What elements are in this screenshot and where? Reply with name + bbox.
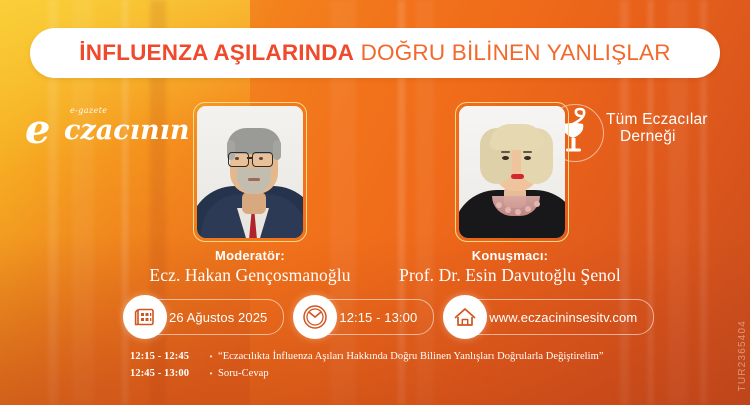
- moderator-name: Ecz. Hakan Gençosmanoğlu: [100, 264, 400, 286]
- agenda-bullet: •: [204, 366, 218, 381]
- speaker-block: Konuşmacı: Prof. Dr. Esin Davutoğlu Şeno…: [360, 248, 660, 286]
- page-title: İNFLUENZA AŞILARINDA DOĞRU BİLİNEN YANLI…: [79, 42, 670, 65]
- time-text: 12:15 - 13:00: [339, 310, 417, 325]
- title-banner: İNFLUENZA AŞILARINDA DOĞRU BİLİNEN YANLI…: [30, 28, 720, 78]
- date-pill: 26 Ağustos 2025: [128, 299, 284, 335]
- logo-tum-eczacilar-dernegi[interactable]: Tüm Eczacılar Derneği: [546, 104, 732, 162]
- title-light-part: DOĞRU BİLİNEN YANLIŞLAR: [354, 40, 671, 65]
- website-text: www.eczacininsesitv.com: [489, 310, 637, 325]
- clock-icon: [302, 304, 328, 330]
- home-icon-circle: [443, 295, 487, 339]
- speaker-name: Prof. Dr. Esin Davutoğlu Şenol: [360, 264, 660, 286]
- speaker-portrait: [459, 106, 565, 238]
- logo-line-1: Tüm Eczacılar: [606, 112, 708, 129]
- logo-kicker: e-gazete: [70, 106, 107, 115]
- date-text: 26 Ağustos 2025: [169, 310, 267, 325]
- title-bold-part: İNFLUENZA AŞILARINDA: [79, 40, 354, 65]
- clock-icon-circle: [293, 295, 337, 339]
- calendar-icon-circle: [123, 295, 167, 339]
- logo-mark-e: e: [25, 110, 50, 150]
- logo-line-2: Derneği: [606, 129, 708, 146]
- agenda-description: “Eczacılıkta İnfluenza Aşıları Hakkında …: [218, 349, 604, 364]
- moderator-portrait: [197, 106, 303, 238]
- logo-text-block: Tüm Eczacılar Derneği: [606, 112, 708, 145]
- agenda-bullet: •: [204, 349, 218, 364]
- reference-code: TUR2365404: [737, 320, 748, 391]
- website-pill[interactable]: www.eczacininsesitv.com: [448, 299, 654, 335]
- speaker-photo-frame: [455, 102, 569, 242]
- agenda-time: 12:45 - 13:00: [130, 366, 204, 381]
- agenda-description: Soru-Cevap: [218, 366, 269, 381]
- agenda-row: 12:15 - 12:45 • “Eczacılıkta İnfluenza A…: [130, 349, 604, 364]
- agenda-row: 12:45 - 13:00 • Soru-Cevap: [130, 366, 604, 381]
- moderator-photo-frame: [193, 102, 307, 242]
- moderator-block: Moderatör: Ecz. Hakan Gençosmanoğlu: [100, 248, 400, 286]
- speaker-role-label: Konuşmacı:: [360, 248, 660, 264]
- agenda-time: 12:15 - 12:45: [130, 349, 204, 364]
- info-pill-group: 26 Ağustos 2025 12:15 - 13:00: [128, 299, 654, 335]
- moderator-role-label: Moderatör:: [100, 248, 400, 264]
- time-pill: 12:15 - 13:00: [298, 299, 434, 335]
- agenda-list: 12:15 - 12:45 • “Eczacılıkta İnfluenza A…: [130, 349, 604, 383]
- webinar-banner: İNFLUENZA AŞILARINDA DOĞRU BİLİNEN YANLI…: [0, 0, 750, 405]
- logo-eczacinin-sesi[interactable]: e e-gazete czacının sesi: [22, 108, 192, 156]
- calendar-icon: [133, 305, 157, 329]
- home-icon: [452, 304, 478, 330]
